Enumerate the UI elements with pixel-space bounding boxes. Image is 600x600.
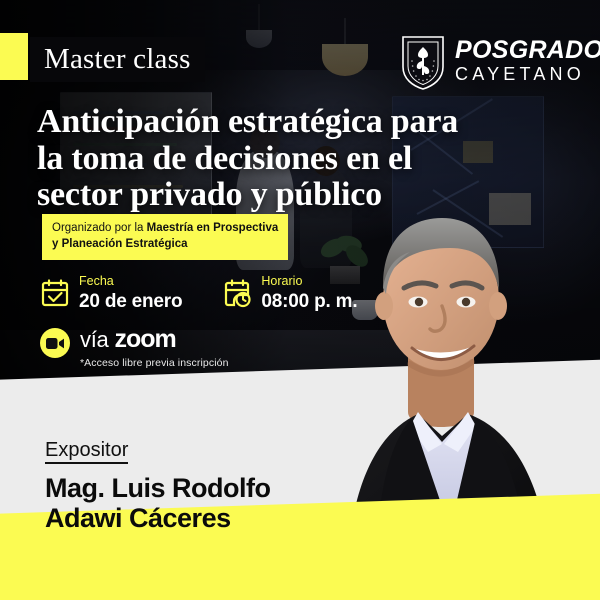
masterclass-badge: Master class — [30, 37, 205, 82]
detail-fecha: Fecha 20 de enero — [40, 275, 182, 311]
headline-line-1: Anticipación estratégica para — [37, 104, 507, 141]
calendar-check-icon — [40, 278, 70, 308]
speaker-info: Expositor Mag. Luis Rodolfo Adawi Cácere… — [45, 440, 365, 533]
masterclass-poster: Master class POSGRADO CAYETANO Ant — [0, 0, 600, 600]
detail-value: 20 de enero — [79, 292, 182, 311]
video-camera-badge — [40, 328, 70, 358]
speaker-name-line-2: Adawi Cáceres — [45, 503, 365, 533]
logo-secondary-text: CAYETANO — [455, 63, 600, 86]
video-camera-icon — [46, 337, 64, 350]
platform-note: *Acceso libre previa inscripción — [80, 357, 229, 369]
brand-logo: POSGRADO CAYETANO — [400, 33, 600, 91]
speaker-label: Expositor — [45, 440, 128, 464]
organizer-prefix: Organizado por la — [52, 222, 147, 234]
speaker-name-line-1: Mag. Luis Rodolfo — [45, 473, 365, 503]
organizer-banner: Organizado por la Maestría en Prospectiv… — [42, 214, 288, 260]
platform-via-label: vía — [80, 327, 108, 353]
organizer-program-line-1: Maestría en Prospectiva — [147, 222, 279, 234]
accent-square — [0, 33, 28, 80]
platform-info: vía zoom *Acceso libre previa inscripció… — [40, 325, 229, 369]
shield-crest-icon — [400, 33, 446, 91]
detail-label: Fecha — [79, 275, 182, 288]
logo-primary-text: POSGRADO — [455, 38, 600, 63]
calendar-clock-icon — [222, 278, 252, 308]
headline-line-2: la toma de decisiones en el — [37, 141, 507, 178]
masterclass-label: Master class — [44, 45, 191, 74]
platform-name: zoom — [114, 325, 175, 354]
organizer-program-line-2: y Planeación Estratégica — [52, 238, 188, 250]
